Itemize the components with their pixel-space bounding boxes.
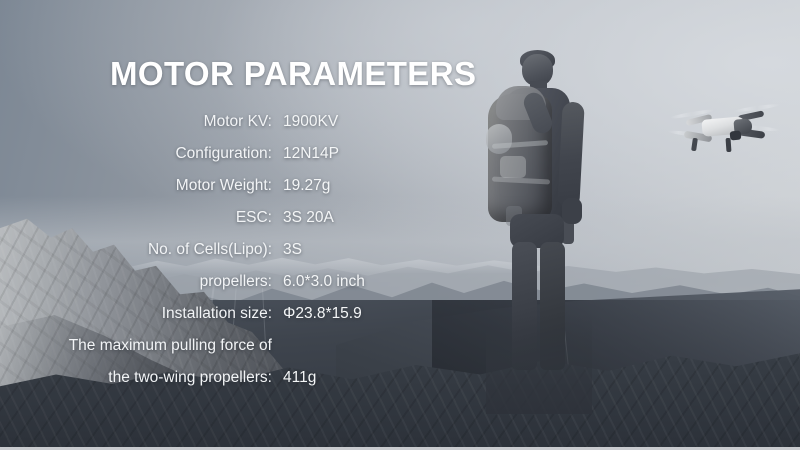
- hiker-backpack-pocket: [500, 156, 526, 178]
- parameter-row-installation-size: Installation size: Φ23.8*15.9: [0, 305, 400, 337]
- parameter-row-motor-kv: Motor KV: 1900KV: [0, 113, 400, 145]
- spec-panel: MOTOR PARAMETERS Motor KV: 1900KV Config…: [0, 0, 440, 450]
- hiker-right-arm: [557, 101, 585, 208]
- parameter-label: the two-wing propellers:: [0, 369, 272, 387]
- parameter-label: Motor KV:: [0, 113, 272, 131]
- drone-camera-gimbal: [730, 131, 742, 141]
- drone-landing-leg: [726, 138, 732, 152]
- parameter-value: 411g: [283, 369, 316, 387]
- parameter-value: 1900KV: [283, 113, 338, 131]
- parameter-label: Motor Weight:: [0, 177, 272, 195]
- parameter-value: 3S 20A: [283, 209, 334, 227]
- hiker-base-fade: [486, 314, 592, 414]
- parameter-label: propellers:: [0, 273, 272, 291]
- quadcopter-drone: [668, 100, 780, 156]
- drone-landing-leg: [691, 138, 698, 152]
- page-title: MOTOR PARAMETERS: [110, 55, 476, 93]
- parameter-label: The maximum pulling force of: [0, 337, 272, 355]
- parameter-row-configuration: Configuration: 12N14P: [0, 145, 400, 177]
- parameter-row-propellers: propellers: 6.0*3.0 inch: [0, 273, 400, 305]
- parameter-row-pulling-force-line2: the two-wing propellers: 411g: [0, 369, 400, 401]
- parameter-row-pulling-force-line1: The maximum pulling force of: [0, 337, 400, 369]
- parameter-row-cells: No. of Cells(Lipo): 3S: [0, 241, 400, 273]
- parameter-value: Φ23.8*15.9: [283, 305, 362, 323]
- parameter-label: No. of Cells(Lipo):: [0, 241, 272, 259]
- parameter-row-esc: ESC: 3S 20A: [0, 209, 400, 241]
- parameter-label: Configuration:: [0, 145, 272, 163]
- motor-parameters-banner: MOTOR PARAMETERS Motor KV: 1900KV Config…: [0, 0, 800, 450]
- parameter-row-motor-weight: Motor Weight: 19.27g: [0, 177, 400, 209]
- hiker-figure: [466, 46, 592, 406]
- parameter-label: Installation size:: [0, 305, 272, 323]
- parameter-value: 3S: [283, 241, 302, 259]
- parameter-label: ESC:: [0, 209, 272, 227]
- parameter-value: 19.27g: [283, 177, 330, 195]
- parameter-value: 12N14P: [283, 145, 339, 163]
- parameter-list: Motor KV: 1900KV Configuration: 12N14P M…: [0, 113, 400, 401]
- parameter-value: 6.0*3.0 inch: [283, 273, 365, 291]
- hiker-backpack-roll: [486, 124, 512, 154]
